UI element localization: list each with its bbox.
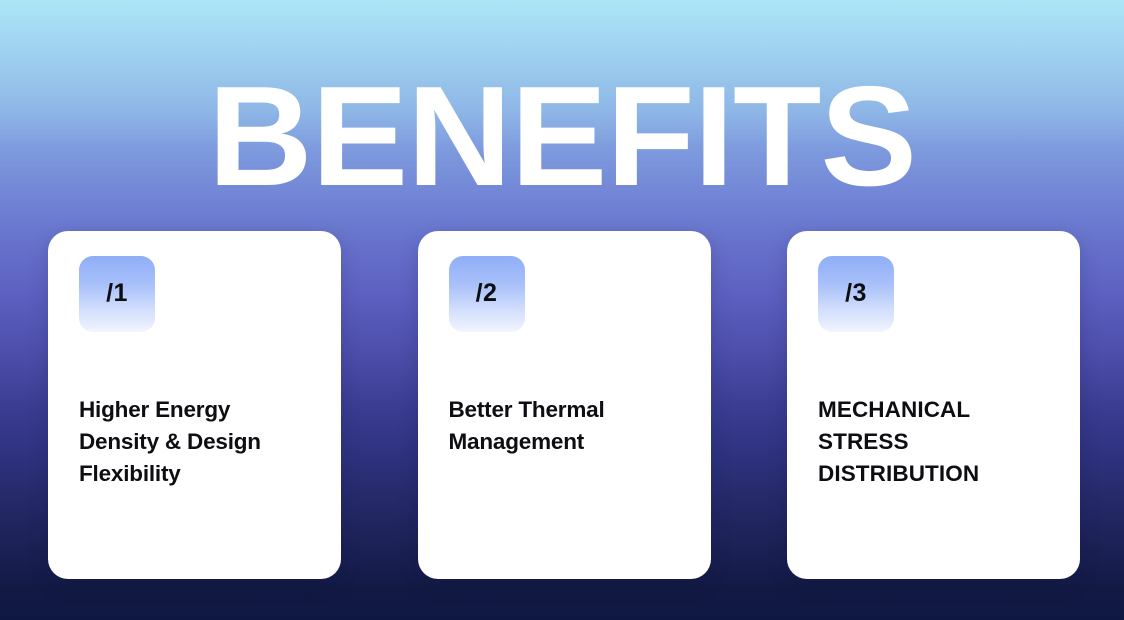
benefit-card-1[interactable]: /1 Higher Energy Density & Design Flexib… — [48, 231, 341, 579]
benefit-card-3[interactable]: /3 MECHANICAL STRESS DISTRIBUTION — [787, 231, 1080, 579]
benefit-card-2[interactable]: /2 Better Thermal Management — [418, 231, 711, 579]
benefit-number-label-1: /1 — [106, 281, 128, 308]
benefit-title-3: MECHANICAL STRESS DISTRIBUTION — [818, 394, 1049, 490]
page-title: BENEFITS — [0, 66, 1124, 208]
benefits-slide: BENEFITS /1 Higher Energy Density & Desi… — [0, 0, 1124, 620]
benefit-number-label-3: /3 — [845, 281, 867, 308]
benefit-title-2: Better Thermal Management — [449, 394, 680, 458]
benefit-number-label-2: /2 — [476, 281, 498, 308]
benefit-cards-row: /1 Higher Energy Density & Design Flexib… — [48, 231, 1080, 579]
benefit-number-badge-1: /1 — [79, 256, 155, 332]
benefit-number-badge-2: /2 — [449, 256, 525, 332]
benefit-number-badge-3: /3 — [818, 256, 894, 332]
benefit-title-1: Higher Energy Density & Design Flexibili… — [79, 394, 310, 490]
